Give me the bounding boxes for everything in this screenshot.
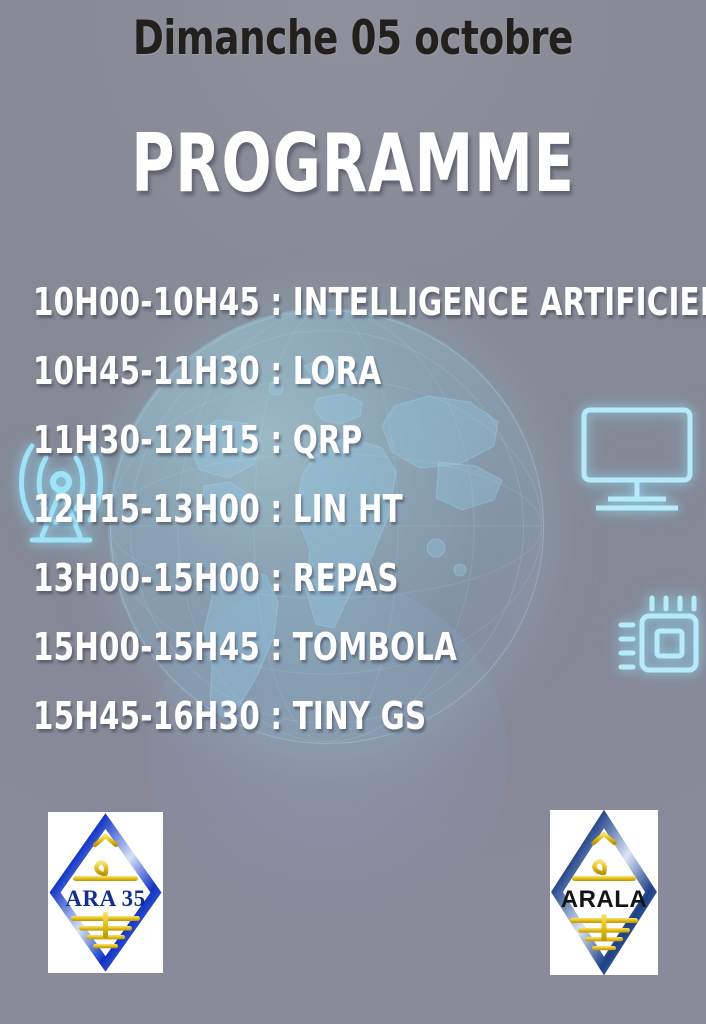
schedule-item: 15H00-15H45 : TOMBOLA [33,613,601,682]
schedule-item: 10H45-11H30 : LORA [33,337,601,406]
schedule-list: 10H00-10H45 : INTELLIGENCE ARTIFICIELLE … [33,268,693,751]
logo-ara35: ARA 35 [48,812,163,973]
svg-text:ARALA: ARALA [561,886,648,913]
ara35-emblem-icon: ARA 35 [48,812,163,973]
svg-text:ARA 35: ARA 35 [65,886,145,911]
schedule-item: 11H30-12H15 : QRP [33,406,601,475]
schedule-item: 13H00-15H00 : REPAS [33,544,601,613]
page-date-title: Dimanche 05 octobre [42,8,663,70]
schedule-item: 12H15-13H00 : LIN HT [33,475,601,544]
schedule-item: 15H45-16H30 : TINY GS [33,682,601,751]
poster-canvas: Dimanche 05 octobre PROGRAMME 10H00-10H4… [0,0,706,1024]
schedule-item: 10H00-10H45 : INTELLIGENCE ARTIFICIELLE [33,268,601,337]
page-title: PROGRAMME [64,117,643,211]
arala-emblem-icon: ARALA [550,810,658,975]
logo-arala: ARALA [550,810,658,975]
